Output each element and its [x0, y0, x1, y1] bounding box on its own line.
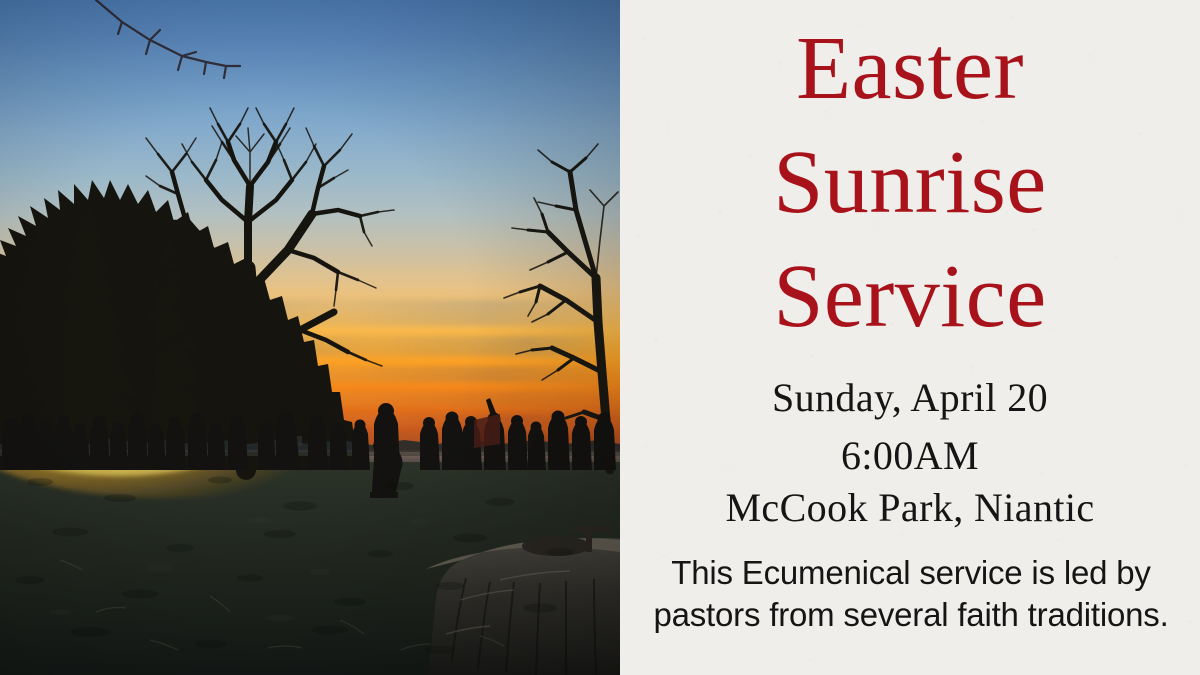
- event-date: Sunday, April 20: [620, 378, 1200, 418]
- sunrise-photo: [0, 0, 620, 675]
- event-time: 6:00AM: [620, 436, 1200, 476]
- event-location: McCook Park, Niantic: [620, 488, 1200, 528]
- easter-sunrise-service-poster: Easter Sunrise Service Sunday, April 20 …: [0, 0, 1200, 675]
- title-line-sunrise: Sunrise: [620, 138, 1200, 228]
- text-panel: Easter Sunrise Service Sunday, April 20 …: [620, 0, 1200, 675]
- ground-texture: [0, 462, 620, 675]
- description-line-1: This Ecumenical service is led by: [626, 552, 1196, 594]
- event-description: This Ecumenical service is led by pastor…: [626, 552, 1196, 636]
- title-line-easter: Easter: [620, 24, 1200, 114]
- title-line-service: Service: [620, 252, 1200, 342]
- description-line-2: pastors from several faith traditions.: [626, 594, 1196, 636]
